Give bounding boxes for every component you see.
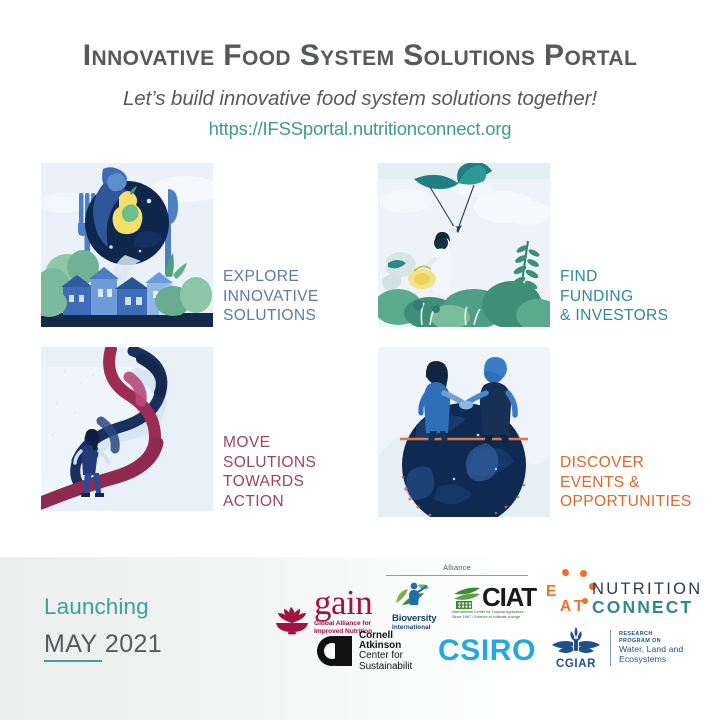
launch-date-block: Launching MAY 2021 [44, 594, 162, 662]
partner-logos: gain Global Alliance for Improved Nutrit… [274, 563, 720, 713]
panel-discover-caption: DISCOVER EVENTS & OPPORTUNITIES [560, 453, 692, 512]
poster-canvas: Innovative Food System Solutions Portal … [0, 0, 720, 720]
bioversity-line1: Bioversity [392, 614, 436, 624]
cgiar-wheat-icon [550, 625, 602, 653]
ribbon-path-walker-illustration [41, 347, 213, 511]
bioversity-line2: International [392, 624, 436, 631]
csiro-wordmark: CSIRO [438, 636, 536, 666]
alliance-divider-rule [386, 575, 528, 576]
logo-cgiar-wle[interactable]: CGIAR RESEARCH PROGRAM ON Water, Land an… [550, 625, 683, 670]
logo-gain[interactable]: gain Global Alliance for Improved Nutrit… [274, 586, 372, 636]
cgiar-wordmark: CGIAR [550, 658, 602, 670]
gain-bowl-icon [274, 606, 310, 636]
panel-move-solutions-towards-action[interactable]: MOVE SOLUTIONS TOWARDS ACTION [41, 347, 381, 519]
logo-csiro[interactable]: CSIRO [438, 636, 536, 666]
eat-dot-icon-2 [580, 570, 587, 577]
cornell-line4: Sustainabilit [359, 662, 412, 672]
handshake-on-globe-illustration [378, 347, 550, 517]
launch-date-space [98, 630, 105, 658]
page-title: Innovative Food System Solutions Portal [0, 39, 720, 73]
panel-move-caption: MOVE SOLUTIONS TOWARDS ACTION [223, 433, 316, 511]
panel-discover-events-opportunities[interactable]: DISCOVER EVENTS & OPPORTUNITIES [378, 347, 718, 519]
eat-dot-icon-1 [562, 569, 569, 576]
eat-letter-a: A [560, 599, 571, 614]
launch-date: MAY 2021 [44, 630, 162, 662]
portal-url-link[interactable]: https://IFSSportal.nutritionconnect.org [0, 118, 720, 140]
launch-month: MAY [44, 630, 98, 658]
gain-wordmark: gain [314, 586, 372, 620]
nutrition-connect-line2: CONNECT [592, 598, 703, 617]
tagline: Let’s build innovative food system solut… [0, 87, 720, 111]
ciat-wordmark: CIAT [482, 585, 536, 610]
ciat-sub2: Since 1967 / Science to cultivate change [452, 615, 544, 620]
logo-nutrition-connect[interactable]: NUTRITION CONNECT [592, 580, 703, 617]
kite-flyer-lantern-illustration [378, 163, 550, 327]
logo-cornell-atkinson[interactable]: Cornell Atkinson Center for Sustainabili… [314, 631, 412, 672]
panel-explore-caption: EXPLORE INNOVATIVE SOLUTIONS [223, 267, 319, 326]
cgiar-program-line4: Ecosystems [619, 654, 683, 664]
panel-funding-caption: FIND FUNDING & INVESTORS [560, 267, 668, 326]
launch-month-underline [44, 660, 102, 662]
logo-bioversity-international[interactable]: Bioversity International [392, 581, 436, 631]
panel-explore-innovative-solutions[interactable]: EXPLORE INNOVATIVE SOLUTIONS [41, 163, 381, 331]
cornell-atkinson-mark-icon [314, 634, 354, 668]
gain-tagline-line1: Global Alliance for [314, 620, 372, 628]
ciat-leaf-icon [452, 586, 482, 610]
alliance-label: Alliance [382, 563, 532, 572]
globe-plate-village-illustration [41, 163, 213, 327]
bioversity-icon [392, 581, 434, 609]
launching-label: Launching [44, 594, 162, 620]
eat-letter-e: E [546, 584, 556, 599]
eat-letter-t: T [574, 599, 583, 614]
panel-find-funding-investors[interactable]: FIND FUNDING & INVESTORS [378, 163, 718, 331]
cgiar-divider [610, 630, 611, 666]
nutrition-connect-line1: NUTRITION [592, 580, 703, 598]
cgiar-program-line3: Water, Land and [619, 644, 683, 654]
logo-ciat[interactable]: CIAT International Center for Tropical A… [452, 585, 544, 619]
launch-year: 2021 [105, 630, 162, 658]
